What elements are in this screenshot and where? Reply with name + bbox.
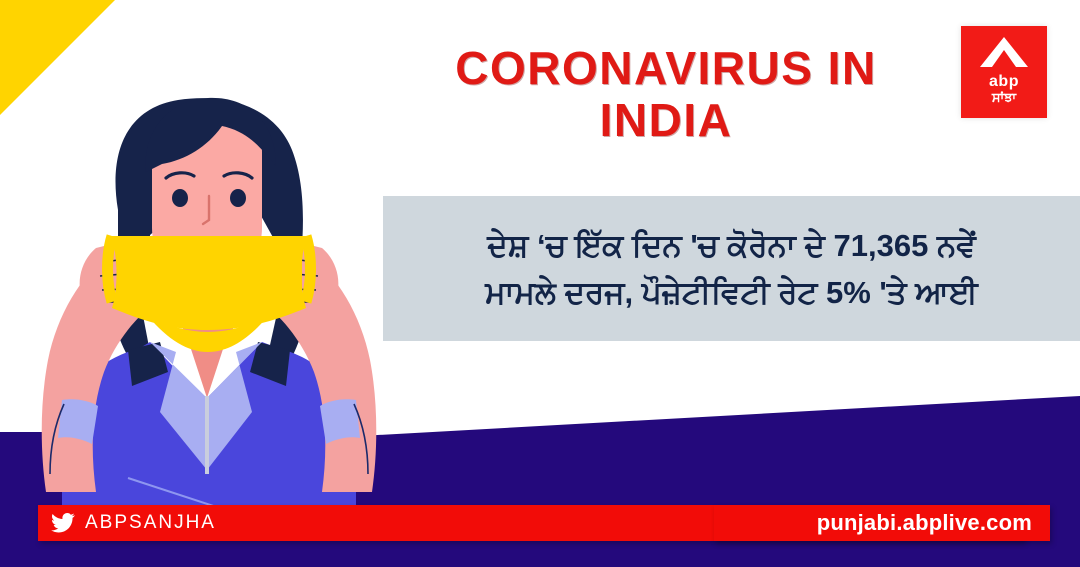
abp-wordmark: abp: [989, 74, 1019, 90]
eye-right: [230, 189, 246, 207]
subtitle-text: ਦੇਸ਼ ‘ਚ ਇੱਕ ਦਿਨ 'ਚ ਕੋਰੋਨਾ ਦੇ 71,365 ਨਵੇਂ…: [383, 222, 1080, 316]
woman-wearing-face-mask-illustration: [0, 0, 420, 530]
website-url-text: punjabi.abplive.com: [817, 510, 1032, 536]
subtitle-panel: ਦੇਸ਼ ‘ਚ ਇੱਕ ਦਿਨ 'ਚ ਕੋਰੋਨਾ ਦੇ 71,365 ਨਵੇਂ…: [383, 196, 1080, 341]
abp-sanjha-wordmark: ਸਾਂਝਾ: [992, 90, 1016, 105]
mask-grip-left: [118, 240, 150, 300]
mask-strap-right: [306, 236, 311, 302]
twitter-bird-icon: [51, 513, 75, 533]
abp-sanjha-logo[interactable]: abp ਸਾਂਝਾ: [961, 26, 1047, 118]
headline: CORONAVIRUS IN INDIA: [383, 42, 949, 146]
shirt-placket: [205, 396, 209, 474]
mask-grip-right: [270, 240, 302, 300]
cuff-left: [58, 399, 98, 444]
abp-chevron-icon: [980, 37, 1028, 72]
headline-line-2: INDIA: [383, 94, 949, 146]
eye-left: [172, 189, 188, 207]
twitter-handle-text: ABPSANJHA: [85, 512, 216, 534]
website-bar[interactable]: punjabi.abplive.com: [714, 505, 1050, 541]
headline-line-1: CORONAVIRUS IN: [383, 42, 949, 94]
mask-strap-left: [108, 236, 113, 302]
news-graphic-card: CORONAVIRUS IN INDIA abp ਸਾਂਝਾ ਦੇਸ਼ ‘ਚ ਇ…: [0, 0, 1080, 567]
cuff-right: [320, 399, 360, 444]
